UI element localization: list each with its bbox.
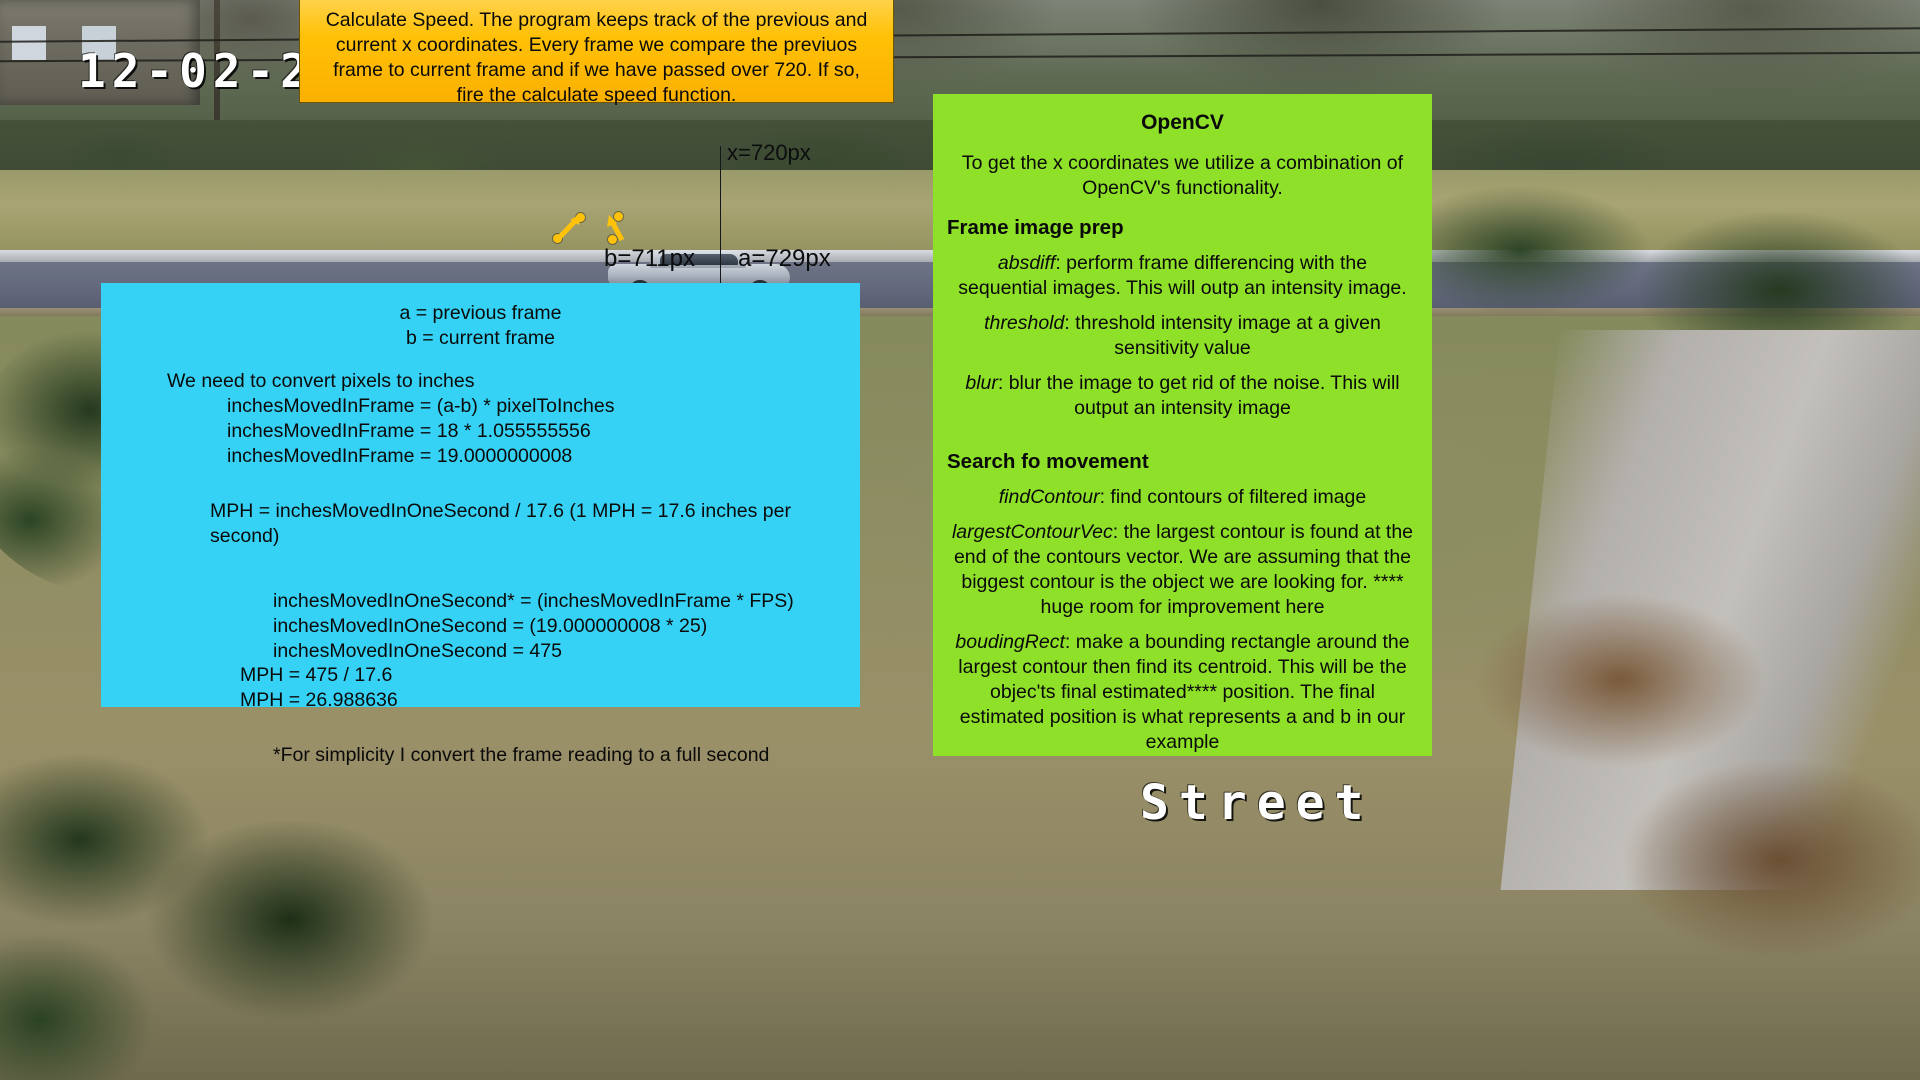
absdiff-item: absdiff: perform frame differencing with… <box>951 251 1414 301</box>
convert-line-3: inchesMovedInFrame = 19.0000000008 <box>115 444 846 469</box>
speed-math-callout: a = previous frame b = current frame We … <box>101 283 860 707</box>
simplicity-footnote: *For simplicity I convert the frame read… <box>115 743 846 768</box>
opencv-title: OpenCV <box>947 110 1418 137</box>
threshold-item: threshold: threshold intensity image at … <box>951 311 1414 361</box>
def-a-line: a = previous frame <box>115 301 846 326</box>
screenshot-root: x=720px b=711px a=729px 12-02-2 1 Street… <box>0 0 1920 1080</box>
def-b-line: b = current frame <box>115 326 846 351</box>
boudingrect-item: boudingRect: make a bounding rectangle a… <box>951 630 1414 755</box>
search-movement-heading: Search fo movement <box>947 449 1418 475</box>
calculate-speed-text: Calculate Speed. The program keeps track… <box>318 8 875 108</box>
x720-reference-line <box>720 146 721 286</box>
largestcontourvec-item: largestContourVec: the largest contour i… <box>951 520 1414 620</box>
result-line-2: MPH = 26.988636 <box>115 688 846 713</box>
findcontour-desc: : find contours of filtered image <box>1100 486 1367 508</box>
boudingrect-fn-name: boudingRect <box>955 631 1065 653</box>
result-line-1: MPH = 475 / 17.6 <box>115 663 846 688</box>
opencv-callout: OpenCV To get the x coordinates we utili… <box>933 94 1432 756</box>
convert-line-1: inchesMovedInFrame = (a-b) * pixelToInch… <box>115 394 846 419</box>
findcontour-item: findContour: find contours of filtered i… <box>951 485 1414 510</box>
second-line-1: inchesMovedInOneSecond* = (inchesMovedIn… <box>115 589 846 614</box>
absdiff-fn-name: absdiff <box>998 252 1055 274</box>
marker-arrow-a <box>604 212 638 244</box>
b-position-label: b=711px <box>604 245 695 273</box>
largestcontourvec-fn-name: largestContourVec <box>952 521 1113 543</box>
threshold-desc: : threshold intensity image at a given s… <box>1064 312 1381 359</box>
camera-location-label: Street <box>1140 775 1373 831</box>
marker-arrow-b <box>552 212 586 244</box>
frame-image-prep-heading: Frame image prep <box>947 215 1418 241</box>
x720-label: x=720px <box>727 140 811 166</box>
convert-heading: We need to convert pixels to inches <box>115 369 846 394</box>
blur-fn-name: blur <box>965 372 998 394</box>
leaf-litter <box>1420 560 1920 980</box>
calculate-speed-callout: Calculate Speed. The program keeps track… <box>299 0 894 103</box>
blur-desc: : blur the image to get rid of the noise… <box>998 372 1400 419</box>
second-line-2: inchesMovedInOneSecond = (19.000000008 *… <box>115 614 846 639</box>
findcontour-fn-name: findContour <box>999 486 1100 508</box>
threshold-fn-name: threshold <box>984 312 1064 334</box>
convert-line-2: inchesMovedInFrame = 18 * 1.055555556 <box>115 419 846 444</box>
a-position-label: a=729px <box>738 245 831 273</box>
second-line-3: inchesMovedInOneSecond = 475 <box>115 639 846 664</box>
blur-item: blur: blur the image to get rid of the n… <box>951 371 1414 421</box>
mph-formula-line: MPH = inchesMovedInOneSecond / 17.6 (1 M… <box>115 499 846 549</box>
opencv-intro: To get the x coordinates we utilize a co… <box>951 151 1414 201</box>
bottom-left-bush <box>0 720 480 1080</box>
